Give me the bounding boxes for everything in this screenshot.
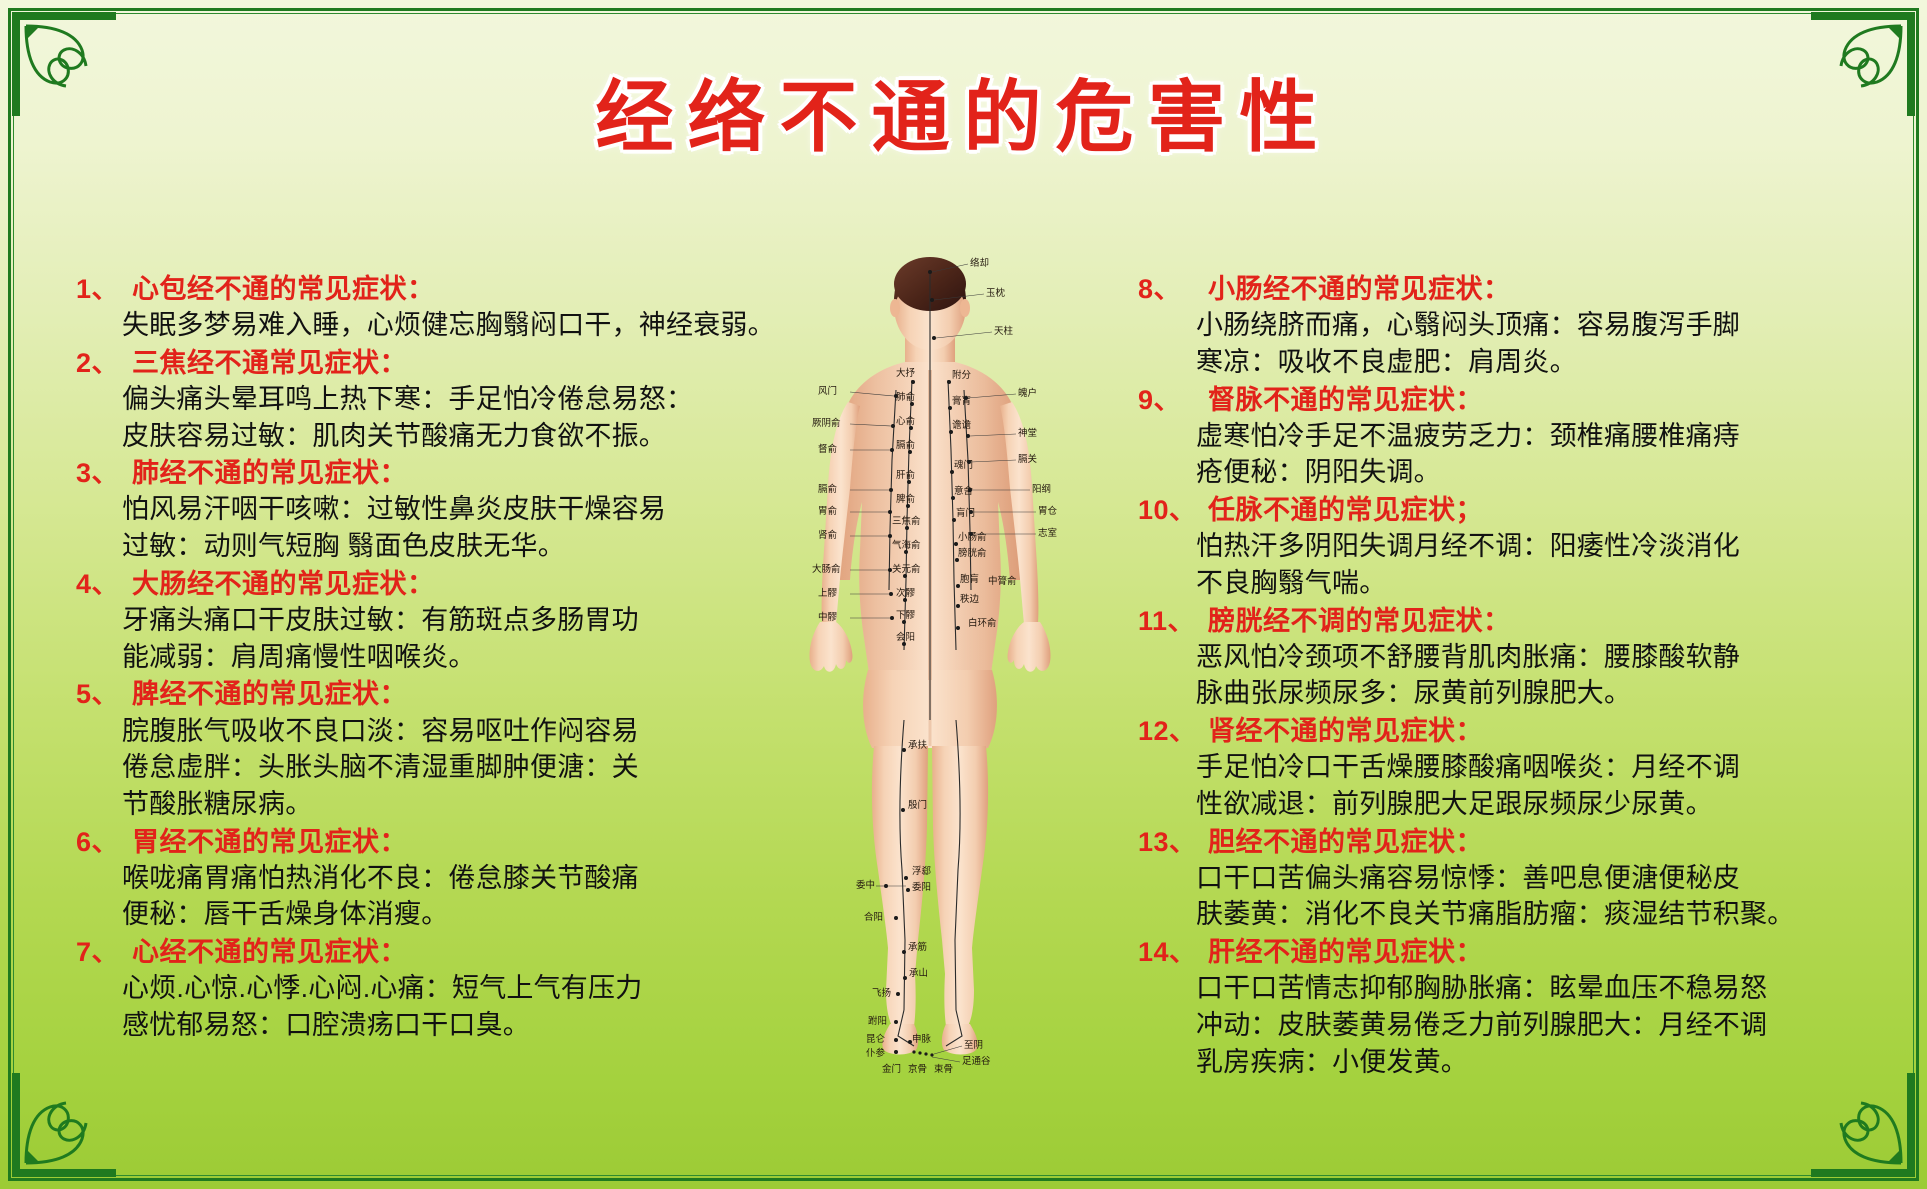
svg-text:附分: 附分 (952, 369, 972, 381)
svg-text:足通谷: 足通谷 (962, 1056, 991, 1067)
svg-text:殷门: 殷门 (908, 799, 927, 811)
symptom-number-13: 13、 (1138, 825, 1208, 860)
symptom-heading-12: 12、 肾经不通的常见症状： (1138, 714, 1778, 749)
symptom-body-6: 喉咙痛胃痛怕热消化不良：倦怠膝关节酸痛 便秘：唇干舌燥身体消瘦。 (76, 860, 696, 933)
symptom-entry-8: 8、 小肠经不通的常见症状： 小肠绕脐而痛，心翳闷头顶痛：容易腹泻手脚 寒凉：吸… (1138, 272, 1778, 381)
symptom-line: 脘腹胀气吸收不良口淡：容易呕吐作闷容易 (122, 713, 696, 750)
symptom-body-14: 口干口苦情志抑郁胸胁胀痛：眩晕血压不稳易怒 冲动：皮肤萎黄易倦乏力前列腺肥大：月… (1138, 970, 1778, 1080)
symptom-entry-1: 1、 心包经不通的常见症状： 失眠多梦易难入睡，心烦健忘胸翳闷口干，神经衰弱。 (76, 272, 696, 344)
svg-text:膀胱俞: 膀胱俞 (958, 547, 987, 559)
symptom-line: 偏头痛头晕耳鸣上热下寒：手足怕冷倦怠易怒： (122, 381, 696, 418)
svg-text:承扶: 承扶 (908, 739, 928, 751)
svg-text:肝俞: 肝俞 (896, 469, 916, 481)
svg-text:跗阳: 跗阳 (868, 1015, 887, 1027)
svg-text:厥阴俞: 厥阴俞 (812, 417, 841, 429)
symptom-entry-9: 9、 督脉不通的常见症状： 虚寒怕冷手足不温疲劳乏力：颈椎痛腰椎痛痔 疮便秘：阴… (1138, 383, 1778, 492)
symptom-entry-7: 7、 心经不通的常见症状： 心烦.心惊.心悸.心闷.心痛：短气上气有压力 感忧郁… (76, 935, 696, 1044)
svg-text:膏肓: 膏肓 (952, 395, 971, 407)
symptom-line: 怕热汗多阴阳失调月经不调：阳痿性冷淡消化 (1196, 528, 1778, 565)
symptom-body-8: 小肠绕脐而痛，心翳闷头顶痛：容易腹泻手脚 寒凉：吸收不良虚肥：肩周炎。 (1138, 307, 1778, 380)
symptoms-column-left: 1、 心包经不通的常见症状： 失眠多梦易难入睡，心烦健忘胸翳闷口干，神经衰弱。 … (76, 272, 696, 1046)
svg-text:风门: 风门 (818, 385, 837, 397)
symptom-title-5: 脾经不通的常见症状： (132, 677, 407, 712)
symptom-line: 过敏：动则气短胸 翳面色皮肤无华。 (122, 528, 696, 565)
svg-text:会阳: 会阳 (896, 631, 915, 643)
symptom-entry-14: 14、 肝经不通的常见症状： 口干口苦情志抑郁胸胁胀痛：眩晕血压不稳易怒 冲动：… (1138, 935, 1778, 1080)
svg-text:大抒: 大抒 (896, 367, 916, 379)
symptom-heading-1: 1、 心包经不通的常见症状： (76, 272, 696, 307)
symptom-heading-3: 3、 肺经不通的常见症状： (76, 456, 696, 491)
symptom-number-7: 7、 (76, 935, 132, 970)
symptoms-column-right: 8、 小肠经不通的常见症状： 小肠绕脐而痛，心翳闷头顶痛：容易腹泻手脚 寒凉：吸… (1138, 272, 1778, 1082)
symptom-line: 小肠绕脐而痛，心翳闷头顶痛：容易腹泻手脚 (1196, 307, 1778, 344)
svg-text:中髎: 中髎 (818, 611, 838, 623)
svg-text:浮郄: 浮郄 (912, 865, 932, 877)
svg-text:胞肓: 胞肓 (960, 573, 979, 585)
svg-text:三焦俞: 三焦俞 (892, 515, 921, 527)
svg-text:胃仓: 胃仓 (1038, 505, 1058, 517)
symptom-line: 牙痛头痛口干皮肤过敏：有筋斑点多肠胃功 (122, 602, 696, 639)
svg-text:至阴: 至阴 (964, 1040, 983, 1051)
symptom-title-2: 三焦经不通常见症状： (132, 346, 407, 381)
symptom-entry-3: 3、 肺经不通的常见症状： 怕风易汗咽干咳嗽：过敏性鼻炎皮肤干燥容易 过敏：动则… (76, 456, 696, 565)
symptom-number-11: 11、 (1138, 604, 1208, 639)
corner-ornament-bottom-left (6, 1063, 126, 1183)
svg-text:天柱: 天柱 (994, 325, 1014, 337)
symptom-line: 性欲减退：前列腺肥大足跟尿频尿少尿黄。 (1196, 786, 1778, 823)
svg-text:心俞: 心俞 (896, 415, 916, 427)
symptom-entry-5: 5、 脾经不通的常见症状： 脘腹胀气吸收不良口淡：容易呕吐作闷容易 倦怠虚胖：头… (76, 677, 696, 822)
svg-text:志室: 志室 (1038, 527, 1057, 539)
acupuncture-body-diagram: 络却 玉枕 天柱 风门 厥阴俞 督俞 (700, 250, 1160, 1080)
symptom-line: 能减弱：肩周痛慢性咽喉炎。 (122, 639, 696, 676)
symptom-body-13: 口干口苦偏头痛容易惊悸：善吧息便溏便秘皮 肤萎黄：消化不良关节痛脂肪瘤：痰湿结节… (1138, 860, 1778, 933)
symptom-line: 口干口苦偏头痛容易惊悸：善吧息便溏便秘皮 (1196, 860, 1778, 897)
symptom-title-1: 心包经不通的常见症状： (132, 272, 435, 307)
symptom-line: 感忧郁易怒：口腔溃疡口干口臭。 (122, 1007, 696, 1044)
svg-text:京骨: 京骨 (908, 1063, 927, 1075)
svg-text:气海俞: 气海俞 (892, 539, 921, 551)
symptom-entry-10: 10、 任脉不通的常见症状； 怕热汗多阴阳失调月经不调：阳痿性冷淡消化 不良胸翳… (1138, 493, 1778, 602)
svg-text:魄户: 魄户 (1018, 387, 1037, 399)
svg-text:上髎: 上髎 (818, 588, 838, 599)
symptom-title-9: 督脉不通的常见症状： (1208, 383, 1483, 418)
symptom-heading-11: 11、 膀胱经不调的常见症状： (1138, 604, 1778, 639)
symptom-title-10: 任脉不通的常见症状； (1208, 493, 1483, 528)
symptom-heading-2: 2、 三焦经不通常见症状： (76, 346, 696, 381)
symptom-entry-4: 4、 大肠经不通的常见症状： 牙痛头痛口干皮肤过敏：有筋斑点多肠胃功 能减弱：肩… (76, 567, 696, 676)
svg-text:承山: 承山 (909, 968, 928, 979)
svg-text:金门: 金门 (882, 1063, 901, 1075)
symptom-line: 失眠多梦易难入睡，心烦健忘胸翳闷口干，神经衰弱。 (122, 307, 696, 344)
symptom-body-1: 失眠多梦易难入睡，心烦健忘胸翳闷口干，神经衰弱。 (76, 307, 696, 344)
symptom-heading-8: 8、 小肠经不通的常见症状： (1138, 272, 1778, 307)
corner-ornament-bottom-right (1801, 1063, 1921, 1183)
symptom-body-2: 偏头痛头晕耳鸣上热下寒：手足怕冷倦怠易怒： 皮肤容易过敏：肌肉关节酸痛无力食欲不… (76, 381, 696, 454)
symptom-line: 节酸胀糖尿病。 (122, 786, 696, 823)
symptom-heading-9: 9、 督脉不通的常见症状： (1138, 383, 1778, 418)
svg-text:秩边: 秩边 (960, 594, 980, 605)
symptom-body-5: 脘腹胀气吸收不良口淡：容易呕吐作闷容易 倦怠虚胖：头胀头脑不清湿重脚肿便溏：关 … (76, 713, 696, 823)
symptom-number-10: 10、 (1138, 493, 1208, 528)
symptom-heading-13: 13、 胆经不通的常见症状： (1138, 825, 1778, 860)
svg-text:合阳: 合阳 (864, 911, 883, 923)
symptom-title-6: 胃经不通的常见症状： (132, 825, 407, 860)
symptom-title-3: 肺经不通的常见症状： (132, 456, 407, 491)
poster-background: 经络不通的危害性 (0, 0, 1927, 1189)
svg-text:委中: 委中 (856, 879, 875, 891)
symptom-line: 乳房疾病：小便发黄。 (1196, 1044, 1778, 1081)
svg-text:下髎: 下髎 (896, 610, 916, 621)
symptom-line: 脉曲张尿频尿多：尿黄前列腺肥大。 (1196, 675, 1778, 712)
svg-text:申脉: 申脉 (912, 1033, 932, 1045)
symptom-body-4: 牙痛头痛口干皮肤过敏：有筋斑点多肠胃功 能减弱：肩周痛慢性咽喉炎。 (76, 602, 696, 675)
symptom-body-12: 手足怕冷口干舌燥腰膝酸痛咽喉炎：月经不调 性欲减退：前列腺肥大足跟尿频尿少尿黄。 (1138, 749, 1778, 822)
svg-text:中膂俞: 中膂俞 (988, 575, 1017, 587)
svg-text:承筋: 承筋 (908, 941, 927, 953)
symptom-line: 皮肤容易过敏：肌肉关节酸痛无力食欲不振。 (122, 418, 696, 455)
symptom-line: 虚寒怕冷手足不温疲劳乏力：颈椎痛腰椎痛痔 (1196, 418, 1778, 455)
symptom-number-12: 12、 (1138, 714, 1208, 749)
symptom-line: 便秘：唇干舌燥身体消瘦。 (122, 896, 696, 933)
symptom-entry-13: 13、 胆经不通的常见症状： 口干口苦偏头痛容易惊悸：善吧息便溏便秘皮 肤萎黄：… (1138, 825, 1778, 934)
svg-text:肾俞: 肾俞 (818, 529, 838, 541)
symptom-number-14: 14、 (1138, 935, 1208, 970)
svg-text:肺俞: 肺俞 (896, 391, 916, 403)
svg-text:阳纲: 阳纲 (1032, 483, 1051, 495)
symptom-line: 倦怠虚胖：头胀头脑不清湿重脚肿便溏：关 (122, 749, 696, 786)
svg-text:飞扬: 飞扬 (872, 987, 891, 999)
symptom-title-11: 膀胱经不调的常见症状： (1208, 604, 1511, 639)
svg-text:谵谵: 谵谵 (952, 419, 972, 431)
symptom-entry-2: 2、 三焦经不通常见症状： 偏头痛头晕耳鸣上热下寒：手足怕冷倦怠易怒： 皮肤容易… (76, 346, 696, 455)
symptom-title-14: 肝经不通的常见症状： (1208, 935, 1483, 970)
symptom-line: 寒凉：吸收不良虚肥：肩周炎。 (1196, 344, 1778, 381)
symptom-line: 冲动：皮肤萎黄易倦乏力前列腺肥大：月经不调 (1196, 1007, 1778, 1044)
symptom-heading-14: 14、 肝经不通的常见症状： (1138, 935, 1778, 970)
svg-text:委阳: 委阳 (912, 881, 931, 893)
svg-text:束骨: 束骨 (934, 1064, 953, 1075)
symptom-heading-5: 5、 脾经不通的常见症状： (76, 677, 696, 712)
symptom-body-10: 怕热汗多阴阳失调月经不调：阳痿性冷淡消化 不良胸翳气喘。 (1138, 528, 1778, 601)
page-title: 经络不通的危害性 (0, 78, 1927, 160)
symptom-number-9: 9、 (1138, 383, 1208, 418)
symptom-number-3: 3、 (76, 456, 132, 491)
symptom-heading-4: 4、 大肠经不通的常见症状： (76, 567, 696, 602)
symptom-line: 怕风易汗咽干咳嗽：过敏性鼻炎皮肤干燥容易 (122, 491, 696, 528)
svg-text:仆参: 仆参 (866, 1047, 886, 1059)
symptom-entry-12: 12、 肾经不通的常见症状： 手足怕冷口干舌燥腰膝酸痛咽喉炎：月经不调 性欲减退… (1138, 714, 1778, 823)
symptom-number-2: 2、 (76, 346, 132, 381)
symptom-entry-11: 11、 膀胱经不调的常见症状： 恶风怕冷颈项不舒腰背肌肉胀痛：腰膝酸软静 脉曲张… (1138, 604, 1778, 713)
symptom-heading-6: 6、 胃经不通的常见症状： (76, 825, 696, 860)
symptom-line: 喉咙痛胃痛怕热消化不良：倦怠膝关节酸痛 (122, 860, 696, 897)
svg-text:神堂: 神堂 (1018, 427, 1037, 439)
svg-text:脾俞: 脾俞 (896, 493, 916, 505)
symptom-heading-10: 10、 任脉不通的常见症状； (1138, 493, 1778, 528)
svg-text:督俞: 督俞 (818, 443, 838, 455)
symptom-body-7: 心烦.心惊.心悸.心闷.心痛：短气上气有压力 感忧郁易怒：口腔溃疡口干口臭。 (76, 970, 696, 1043)
symptom-body-11: 恶风怕冷颈项不舒腰背肌肉胀痛：腰膝酸软静 脉曲张尿频尿多：尿黄前列腺肥大。 (1138, 639, 1778, 712)
svg-text:大肠俞: 大肠俞 (812, 563, 841, 575)
symptom-number-8: 8、 (1138, 272, 1208, 307)
symptom-title-8: 小肠经不通的常见症状： (1208, 272, 1511, 307)
symptom-title-7: 心经不通的常见症状： (132, 935, 407, 970)
symptom-body-9: 虚寒怕冷手足不温疲劳乏力：颈椎痛腰椎痛痔 疮便秘：阴阳失调。 (1138, 418, 1778, 491)
svg-text:络却: 络却 (970, 257, 989, 269)
symptom-body-3: 怕风易汗咽干咳嗽：过敏性鼻炎皮肤干燥容易 过敏：动则气短胸 翳面色皮肤无华。 (76, 491, 696, 564)
symptom-line: 疮便秘：阴阳失调。 (1196, 454, 1778, 491)
svg-text:昆仑: 昆仑 (866, 1033, 886, 1045)
symptom-number-5: 5、 (76, 677, 132, 712)
svg-text:白环俞: 白环俞 (968, 617, 997, 629)
svg-text:玉枕: 玉枕 (986, 287, 1006, 299)
symptom-line: 口干口苦情志抑郁胸胁胀痛：眩晕血压不稳易怒 (1196, 970, 1778, 1007)
symptom-heading-7: 7、 心经不通的常见症状： (76, 935, 696, 970)
symptom-title-4: 大肠经不通的常见症状： (132, 567, 435, 602)
svg-text:膈俞: 膈俞 (896, 439, 916, 451)
symptom-line: 肤萎黄：消化不良关节痛脂肪瘤：痰湿结节积聚。 (1196, 896, 1778, 933)
svg-text:胃俞: 胃俞 (818, 505, 838, 517)
symptom-number-1: 1、 (76, 272, 132, 307)
symptom-number-6: 6、 (76, 825, 132, 860)
svg-text:膈俞: 膈俞 (818, 483, 838, 495)
symptom-title-13: 胆经不通的常见症状： (1208, 825, 1483, 860)
symptom-line: 心烦.心惊.心悸.心闷.心痛：短气上气有压力 (122, 970, 696, 1007)
symptom-title-12: 肾经不通的常见症状： (1208, 714, 1483, 749)
svg-text:关元俞: 关元俞 (892, 563, 921, 575)
svg-text:膈关: 膈关 (1018, 453, 1038, 465)
symptom-line: 恶风怕冷颈项不舒腰背肌肉胀痛：腰膝酸软静 (1196, 639, 1778, 676)
symptom-entry-6: 6、 胃经不通的常见症状： 喉咙痛胃痛怕热消化不良：倦怠膝关节酸痛 便秘：唇干舌… (76, 825, 696, 934)
symptom-line: 不良胸翳气喘。 (1196, 565, 1778, 602)
symptom-line: 手足怕冷口干舌燥腰膝酸痛咽喉炎：月经不调 (1196, 749, 1778, 786)
svg-text:次髎: 次髎 (896, 587, 916, 599)
symptom-number-4: 4、 (76, 567, 132, 602)
